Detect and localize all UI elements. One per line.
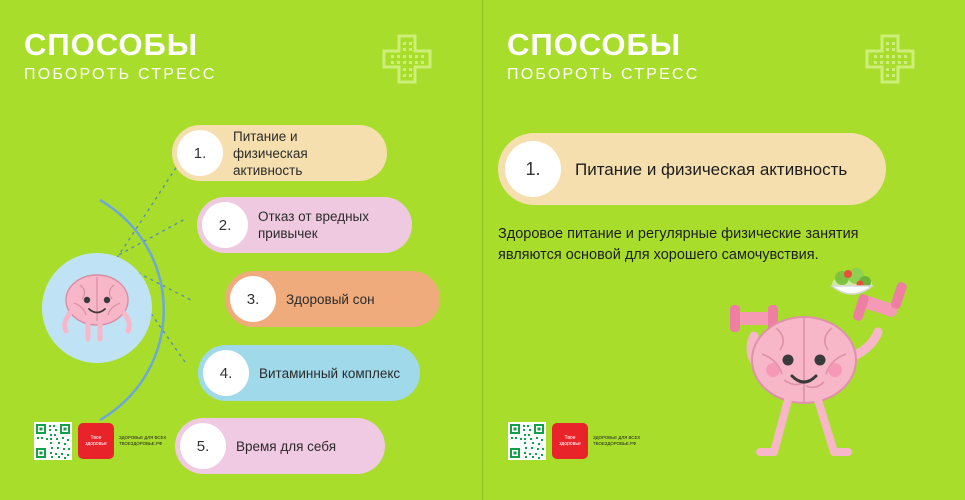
logo-line2: здоровье	[85, 441, 106, 447]
page-title-left: СПОСОБЫ ПОБОРОТЬ СТРЕСС	[24, 28, 216, 84]
list-item[interactable]: 3. Здоровый сон	[225, 271, 440, 327]
list-item-label: Отказ от вредных привычек	[258, 208, 398, 242]
logo-caption: ЗДОРОВЬЕ ДЛЯ ВСЕХ ТВОЕЗДОРОВЬЕ.РФ	[119, 435, 177, 446]
list-item[interactable]: 2. Отказ от вредных привычек	[197, 197, 412, 253]
list-item-label: Витаминный комплекс	[259, 365, 400, 382]
list-item-number: 3.	[230, 276, 276, 322]
list-item[interactable]: 4. Витаминный комплекс	[198, 345, 420, 401]
qr-code[interactable]	[508, 422, 546, 460]
list-item-label: Время для себя	[236, 438, 336, 455]
heading-line2-left: ПОБОРОТЬ СТРЕСС	[24, 66, 216, 84]
list-item-label: Питание и физическая активность	[233, 128, 373, 179]
salad-icon	[832, 268, 872, 294]
list-item-number: 5.	[180, 423, 226, 469]
featured-card-number: 1.	[505, 141, 561, 197]
footer-branding-right: Твое здоровье ЗДОРОВЬЕ ДЛЯ ВСЕХ ТВОЕЗДОР…	[508, 422, 651, 460]
heading-line1-left: СПОСОБЫ	[24, 28, 216, 62]
logo-caption: ЗДОРОВЬЕ ДЛЯ ВСЕХ ТВОЕЗДОРОВЬЕ.РФ	[593, 435, 651, 446]
brain-with-dumbbells-and-salad	[700, 250, 930, 485]
featured-card-label: Питание и физическая активность	[575, 158, 847, 181]
list-item[interactable]: 5. Время для себя	[175, 418, 385, 474]
heading-line1-right: СПОСОБЫ	[507, 28, 699, 62]
medical-cross-icon	[378, 30, 436, 88]
list-item-number: 4.	[203, 350, 249, 396]
list-item[interactable]: 1. Питание и физическая активность	[172, 125, 387, 181]
logo-line2: здоровье	[559, 441, 580, 447]
page-title-right: СПОСОБЫ ПОБОРОТЬ СТРЕСС	[507, 28, 699, 84]
footer-branding-left: Твое здоровье ЗДОРОВЬЕ ДЛЯ ВСЕХ ТВОЕЗДОР…	[34, 422, 177, 460]
medical-cross-icon	[861, 30, 919, 88]
list-item-number: 2.	[202, 202, 248, 248]
logo-badge: Твое здоровье	[78, 423, 114, 459]
logo-badge: Твое здоровье	[552, 423, 588, 459]
slide-left: СПОСОБЫ ПОБОРОТЬ СТРЕСС	[0, 0, 482, 500]
brain-character-icon	[42, 253, 152, 363]
list-item-label: Здоровый сон	[286, 291, 375, 308]
featured-card[interactable]: 1. Питание и физическая активность	[498, 133, 886, 205]
qr-code[interactable]	[34, 422, 72, 460]
list-item-number: 1.	[177, 130, 223, 176]
heading-line2-right: ПОБОРОТЬ СТРЕСС	[507, 66, 699, 84]
